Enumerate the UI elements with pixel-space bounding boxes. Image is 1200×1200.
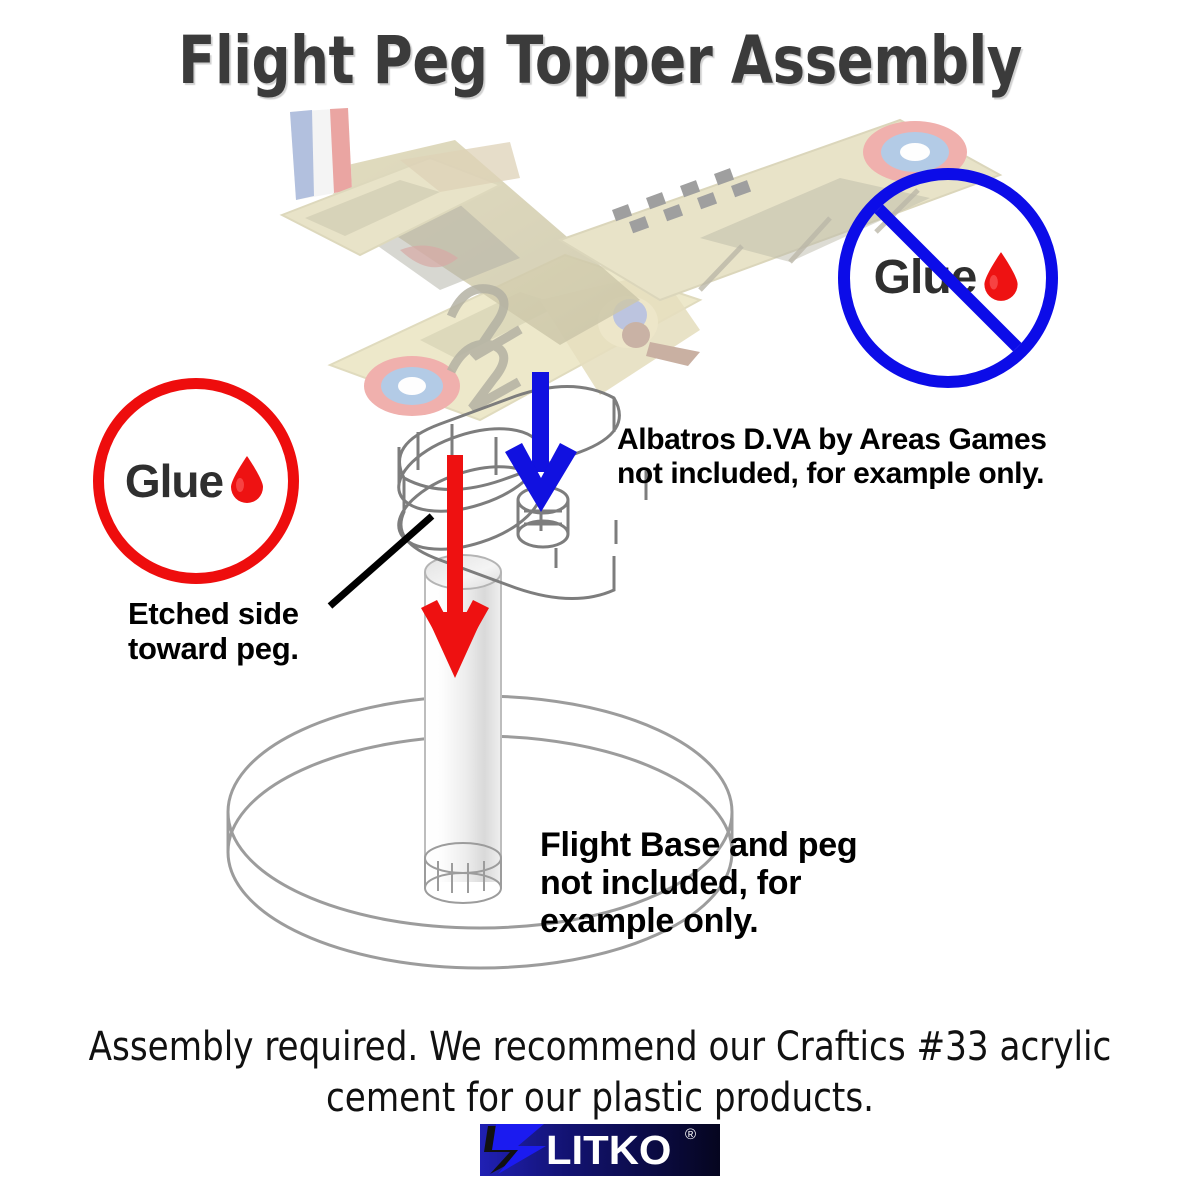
glue-drop-icon xyxy=(227,453,267,510)
base-disclaimer-label: Flight Base and peg not included, for ex… xyxy=(540,826,857,940)
instruction-sheet: Flight Peg Topper Assembly Glue Glue xyxy=(0,0,1200,1200)
etched-side-leader-line xyxy=(330,516,432,606)
glue-required-badge: Glue xyxy=(93,378,299,584)
no-glue-badge: Glue xyxy=(838,168,1058,388)
glue-required-label: Glue xyxy=(125,458,223,504)
page-title: Flight Peg Topper Assembly xyxy=(48,22,1152,99)
registered-trademark-mark: ® xyxy=(685,1126,696,1143)
assembly-caption: Assembly required. We recommend our Craf… xyxy=(87,1022,1113,1124)
etched-side-label: Etched side toward peg. xyxy=(128,597,299,666)
glue-drop-icon xyxy=(980,249,1022,308)
plane-disclaimer-label: Albatros D.VA by Areas Games not include… xyxy=(617,423,1047,490)
litko-logo: LITKO ® xyxy=(480,1124,720,1176)
glue-required-badge-content: Glue xyxy=(104,389,288,573)
litko-wordmark: LITKO xyxy=(546,1127,671,1174)
